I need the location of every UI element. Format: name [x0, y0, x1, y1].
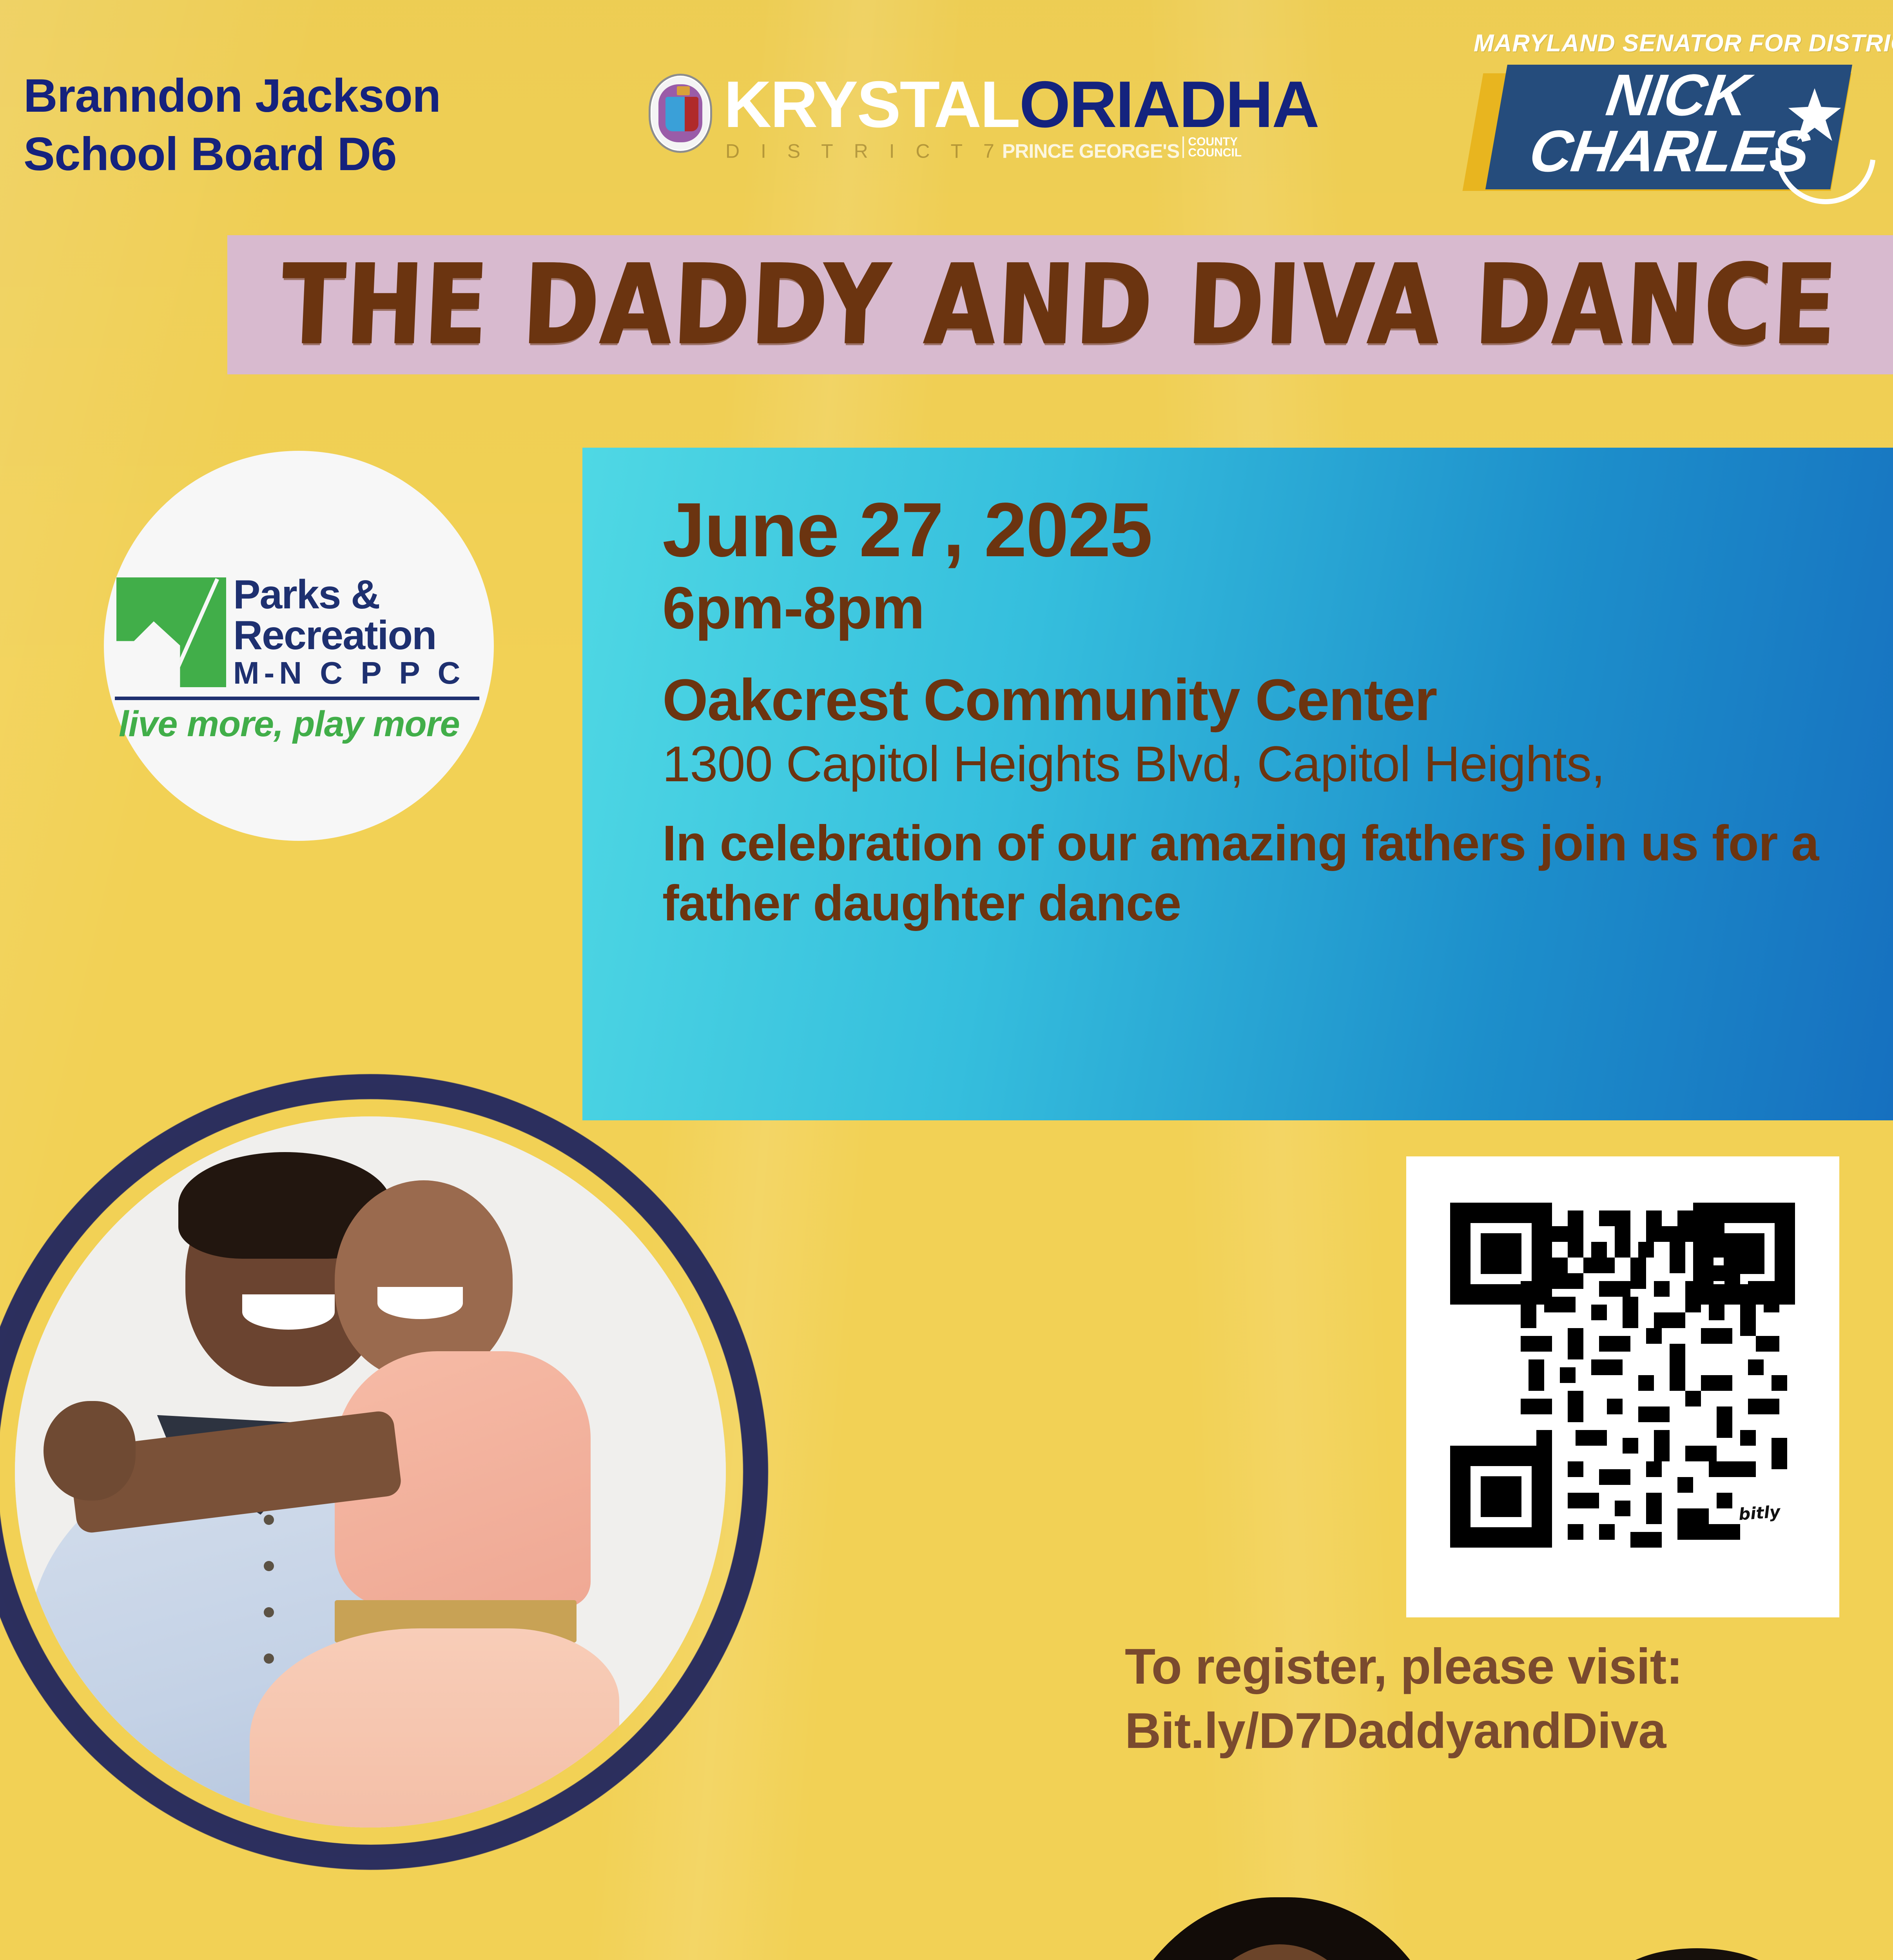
- register-prompt: To register, please visit:: [1125, 1639, 1683, 1695]
- title-band: THE DADDY AND DIVA DANCE: [227, 235, 1893, 374]
- logo-krystal-oriadha: KRYSTALORIADHA D I S T R I C T 7PRINCE G…: [649, 67, 1393, 161]
- registration-info: To register, please visit: Bit.ly/D7Dadd…: [1125, 1635, 1893, 1763]
- qr-code-icon[interactable]: bitly: [1450, 1203, 1795, 1548]
- header: Branndon Jackson School Board D6 KRYSTAL…: [0, 0, 1893, 220]
- logo-branndon-jackson: Branndon Jackson School Board D6: [24, 67, 441, 183]
- bitly-watermark: bitly: [1738, 1502, 1781, 1524]
- krystal-subtitle: D I S T R I C T 7PRINCE GEORGE'SCOUNTY C…: [725, 136, 1242, 161]
- logo-parks-recreation: Parks & Recreation M-N C P P C live more…: [104, 451, 494, 841]
- nick-tagline: MARYLAND SENATOR FOR DISTRICT 25: [1474, 29, 1869, 57]
- page-title: THE DADDY AND DIVA DANCE: [279, 240, 1841, 369]
- krystal-oriadha-name: KRYSTALORIADHA: [724, 67, 1318, 142]
- qr-code-box[interactable]: bitly: [1406, 1156, 1839, 1617]
- parks-line-2: Recreation: [233, 615, 484, 656]
- register-url[interactable]: Bit.ly/D7DaddyandDiva: [1125, 1699, 1893, 1763]
- prince-georges-county-seal-icon: [649, 74, 712, 153]
- mountain-mark-icon: [116, 577, 226, 687]
- logo-nick-charles: MARYLAND SENATOR FOR DISTRICT 25 NICK CH…: [1450, 29, 1873, 194]
- krystal-first-name: KRYSTAL: [724, 67, 1019, 141]
- event-info-panel: June 27, 2025 6pm-8pm Oakcrest Community…: [582, 448, 1893, 1120]
- event-venue: Oakcrest Community Center: [662, 669, 1869, 730]
- father-daughter-photo: [0, 1074, 768, 1870]
- official-right: [1497, 1905, 1893, 1960]
- event-date: June 27, 2025: [662, 491, 1869, 569]
- krystal-county-council-badge: COUNTY COUNCIL: [1182, 136, 1242, 158]
- officials-group-photo: [643, 1858, 1893, 1960]
- event-address: 1300 Capitol Heights Blvd, Capitol Heigh…: [662, 736, 1681, 793]
- parks-line-1: Parks &: [233, 574, 484, 615]
- official-left: [690, 1936, 1074, 1960]
- parks-tagline: live more, play more: [119, 704, 483, 745]
- krystal-district-label: D I S T R I C T 7: [725, 140, 1002, 162]
- official-center: [1058, 1874, 1513, 1960]
- nick-charles-name: NICK CHARLES: [1501, 67, 1846, 179]
- event-description: In celebration of our amazing fathers jo…: [662, 813, 1822, 934]
- parks-divider: [115, 697, 479, 700]
- parks-line-3: M-N C P P C: [233, 656, 484, 690]
- event-time: 6pm-8pm: [662, 578, 1869, 639]
- krystal-last-name: ORIADHA: [1019, 67, 1318, 141]
- krystal-council-label: PRINCE GEORGE'S: [1002, 140, 1180, 162]
